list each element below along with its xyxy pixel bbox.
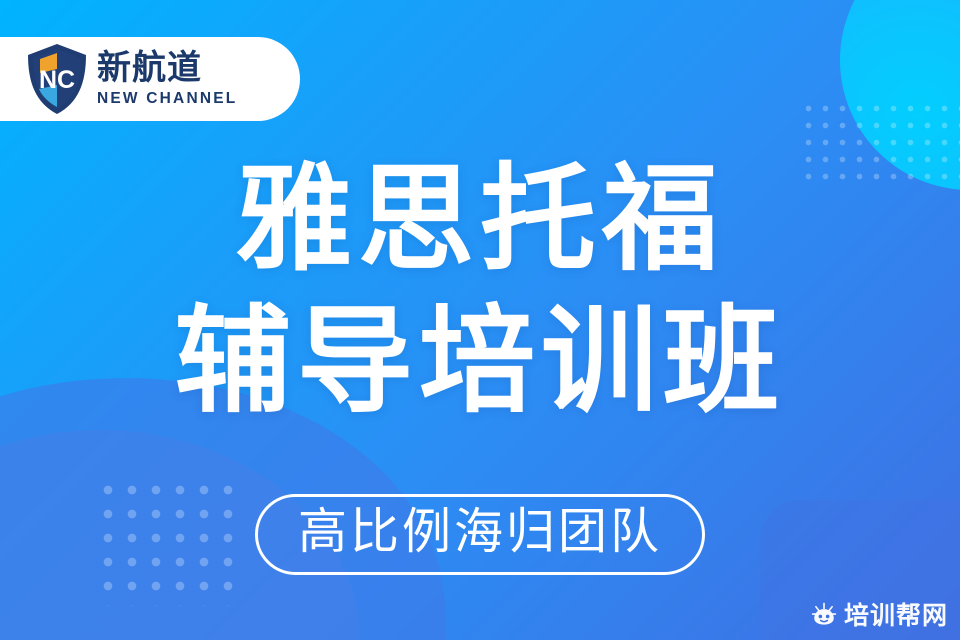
brand-name-en: NEW CHANNEL xyxy=(97,91,237,107)
headline-line-1: 雅思托福 xyxy=(0,146,960,294)
promo-banner: NC 新航道 NEW CHANNEL 雅思托福 辅导培训班 高比例海归团队 xyxy=(0,0,960,640)
subtitle-pill: 高比例海归团队 xyxy=(255,494,705,575)
sun-face-icon xyxy=(811,601,837,627)
shield-icon: NC xyxy=(26,43,88,115)
brand-text: 新航道 NEW CHANNEL xyxy=(97,51,237,107)
subtitle-block: 高比例海归团队 xyxy=(0,494,960,575)
watermark-text: 培训帮网 xyxy=(844,596,948,632)
brand-name-cn: 新航道 xyxy=(97,51,237,85)
watermark: 培训帮网 xyxy=(811,596,948,632)
svg-text:NC: NC xyxy=(39,66,75,94)
headline-line-2: 辅导培训班 xyxy=(0,288,960,436)
headline-block: 雅思托福 辅导培训班 xyxy=(0,146,960,437)
brand-logo-plate: NC 新航道 NEW CHANNEL xyxy=(0,37,300,121)
